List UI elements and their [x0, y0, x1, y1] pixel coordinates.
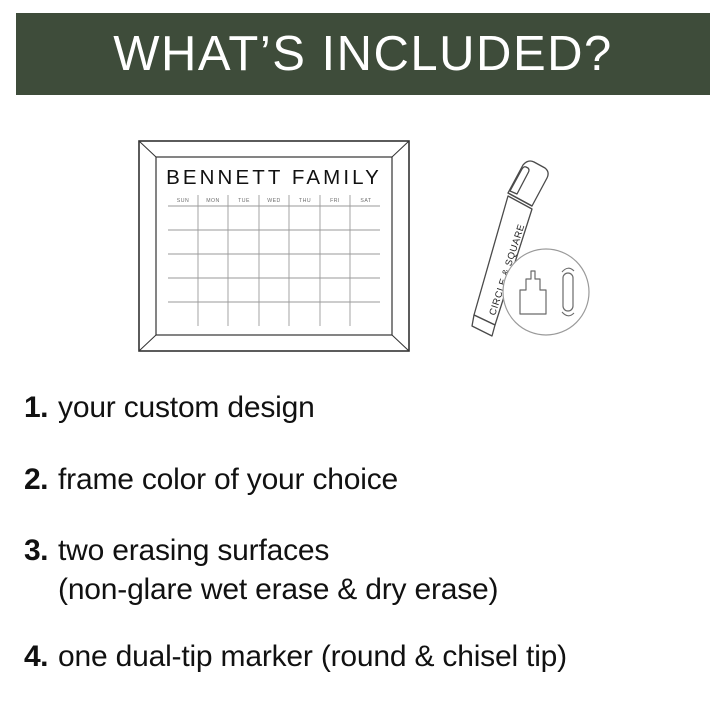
list-item-text-block: your custom design — [58, 388, 720, 428]
day-header-tue: TUE — [238, 198, 250, 204]
page-title: WHAT’S INCLUDED? — [113, 30, 613, 79]
list-item-text-block: frame color of your choice — [58, 460, 720, 500]
header-banner: WHAT’S INCLUDED? — [16, 13, 710, 95]
calendar-frame-graphic: BENNETT FAMILY SUN MON TUE WED THU FRI S… — [138, 140, 410, 352]
list-item-label: frame color of your choice — [58, 460, 720, 500]
list-item-text-block: one dual-tip marker (round & chisel tip) — [58, 637, 720, 677]
day-header-sat: SAT — [360, 198, 372, 204]
whats-included-page: WHAT’S INCLUDED? BENNETT FAMILY SUN — [0, 0, 720, 720]
list-item: 4. one dual-tip marker (round & chisel t… — [0, 637, 720, 677]
list-item-label: two erasing surfaces — [58, 531, 720, 571]
marker-illustration: CIRCLE & SQUARE — [468, 158, 593, 353]
list-item-label: your custom design — [58, 388, 720, 428]
round-tip-icon — [563, 273, 573, 311]
included-items-list: 1. your custom design 2. frame color of … — [0, 378, 720, 685]
product-illustrations: BENNETT FAMILY SUN MON TUE WED THU FRI S… — [0, 110, 720, 375]
list-item-number: 3. — [24, 534, 48, 568]
list-item-text-block: two erasing surfaces (non-glare wet eras… — [58, 531, 720, 609]
day-header-thu: THU — [299, 198, 311, 204]
calendar-illustration: BENNETT FAMILY SUN MON TUE WED THU FRI S… — [138, 140, 410, 352]
day-header-wed: WED — [267, 198, 281, 204]
list-item-number: 4. — [24, 640, 48, 674]
list-item-number: 1. — [24, 391, 48, 425]
list-item-number: 2. — [24, 463, 48, 497]
marker-graphic: CIRCLE & SQUARE — [468, 158, 593, 353]
list-item: 2. frame color of your choice — [0, 460, 720, 500]
list-item-sublabel: (non-glare wet erase & dry erase) — [58, 570, 720, 610]
day-header-fri: FRI — [330, 198, 340, 204]
list-item-label: one dual-tip marker (round & chisel tip) — [58, 637, 720, 677]
day-header-mon: MON — [206, 198, 220, 204]
list-item: 1. your custom design — [0, 388, 720, 428]
calendar-board-title: BENNETT FAMILY — [166, 166, 382, 189]
list-item: 3. two erasing surfaces (non-glare wet e… — [0, 531, 720, 609]
day-header-sun: SUN — [177, 198, 189, 204]
